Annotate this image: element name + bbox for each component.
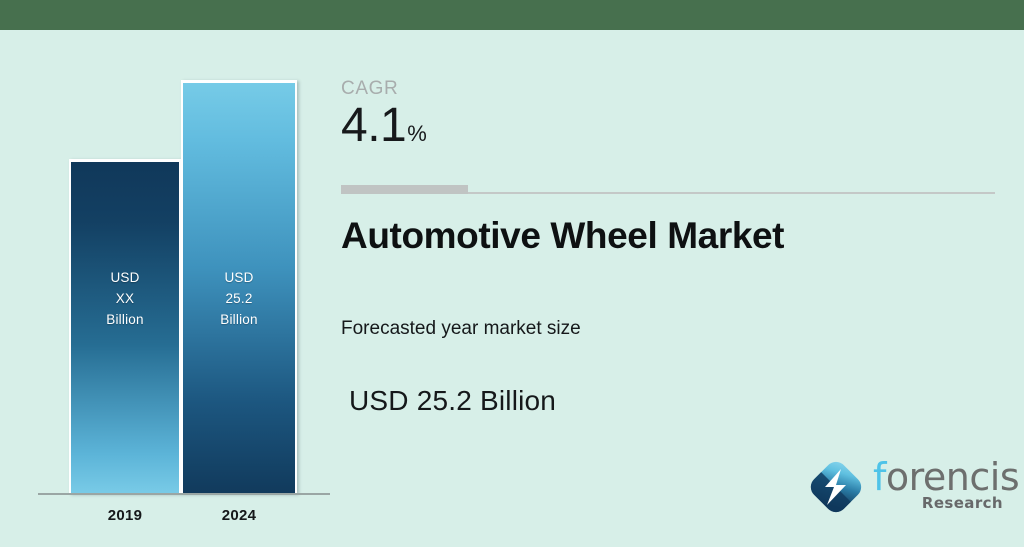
bar-chart: USD XX Billion USD 25.2 Billion 2019 202…: [0, 30, 340, 547]
forencis-diamond-icon: [805, 456, 867, 518]
x-axis-tick-2019: 2019: [69, 507, 181, 524]
cagr-progress-fill: [341, 185, 468, 194]
bar-2024-label-line-2: 25.2: [183, 288, 295, 309]
bar-2019-label-line-1: USD: [71, 267, 179, 288]
forecast-caption: Forecasted year market size: [341, 318, 581, 340]
bar-2019: USD XX Billion: [69, 159, 181, 494]
bar-2024-label: USD 25.2 Billion: [183, 267, 295, 330]
top-green-band: [0, 0, 1024, 30]
bar-2019-label-line-3: Billion: [71, 309, 179, 330]
cagr-value: 4.1: [341, 102, 406, 150]
bar-2019-label: USD XX Billion: [71, 267, 179, 330]
bar-2024-label-line-1: USD: [183, 267, 295, 288]
forecast-value: USD 25.2 Billion: [349, 385, 556, 417]
bar-2019-label-line-2: XX: [71, 288, 179, 309]
forencis-wordmark: forencis Research: [873, 458, 1005, 518]
forencis-subtitle: Research: [922, 494, 1003, 512]
cagr-value-row: 4.1 %: [341, 102, 427, 150]
infographic-canvas: USD XX Billion USD 25.2 Billion 2019 202…: [0, 0, 1024, 547]
bar-2024-label-line-3: Billion: [183, 309, 295, 330]
x-axis-line: [38, 493, 330, 495]
x-axis-tick-2024: 2024: [181, 507, 297, 524]
cagr-label: CAGR: [341, 78, 398, 100]
forencis-word: forencis: [873, 458, 1019, 496]
page-title: Automotive Wheel Market: [341, 215, 784, 257]
forencis-word-f: f: [873, 455, 886, 499]
cagr-percent-sign: %: [407, 123, 427, 145]
bar-2024: USD 25.2 Billion: [181, 80, 297, 494]
info-panel: CAGR 4.1 % Automotive Wheel Market Forec…: [341, 30, 1024, 547]
forencis-logo: forencis Research: [805, 450, 1005, 524]
forencis-word-rest: orencis: [886, 455, 1019, 499]
x-axis-tick-labels: 2019 2024: [0, 507, 340, 529]
